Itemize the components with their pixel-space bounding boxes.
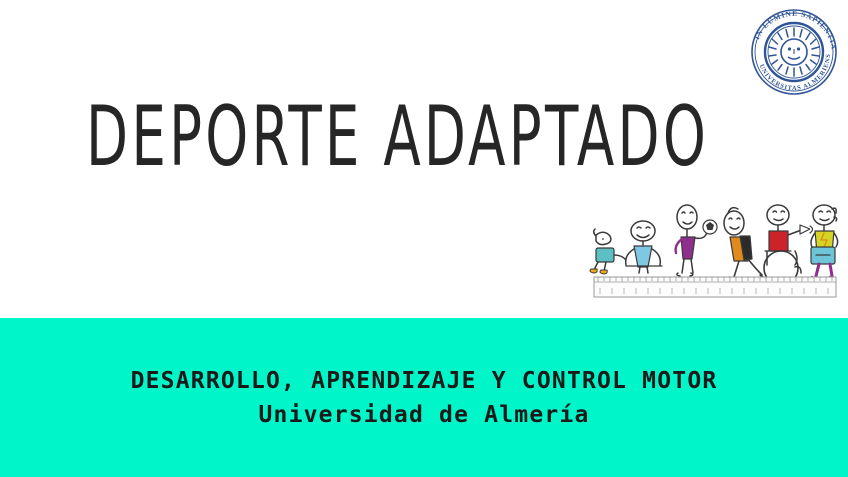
figure-elder-with-bag (811, 205, 838, 281)
footer-band: DESARROLLO, APRENDIZAJE Y CONTROL MOTOR … (0, 318, 848, 477)
university-seal-logo: IN LUMINE SAPIENTIA UNIVERSITAS ALMERIEN… (744, 2, 844, 96)
figure-wheelchair-user-trumpet (764, 205, 813, 285)
stick-figures-illustration (582, 193, 844, 305)
figure-sitting-child (626, 221, 662, 273)
footer-text-block: DESARROLLO, APRENDIZAJE Y CONTROL MOTOR … (0, 366, 848, 430)
university-name: Universidad de Almería (0, 400, 848, 430)
figure-crawling-baby (590, 229, 626, 274)
ruler (594, 277, 836, 297)
slide: IN LUMINE SAPIENTIA UNIVERSITAS ALMERIEN… (0, 0, 848, 477)
page-title: DEPORTE ADAPTADO (86, 87, 578, 188)
figure-child-with-ball (676, 205, 717, 276)
course-title: DESARROLLO, APRENDIZAJE Y CONTROL MOTOR (0, 366, 848, 396)
figure-running-adult (724, 208, 766, 281)
